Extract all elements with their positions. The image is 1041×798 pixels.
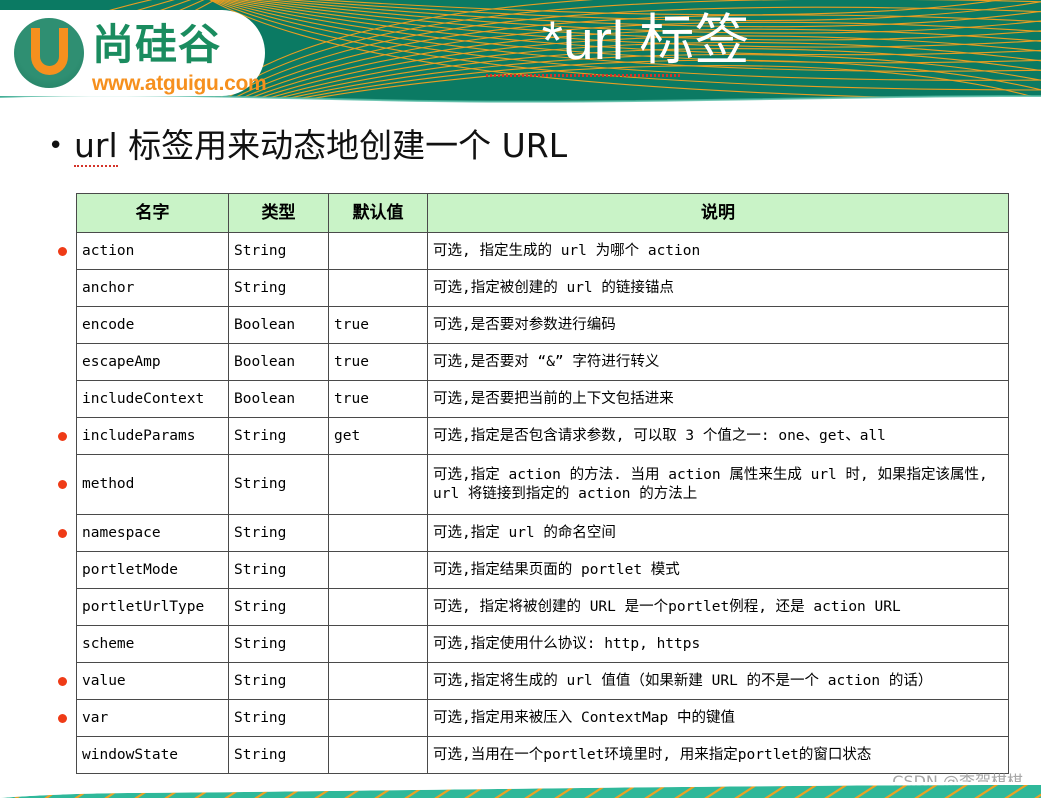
cell-attr-default xyxy=(329,700,428,737)
cell-attr-desc: 可选,指定结果页面的 portlet 模式 xyxy=(428,552,1009,589)
cell-attr-default xyxy=(329,270,428,307)
cell-attr-name: method xyxy=(77,455,229,515)
footer-decoration-strip xyxy=(0,782,1041,798)
table-row: portletUrlTypeString可选, 指定将被创建的 URL 是一个p… xyxy=(77,589,1009,626)
cell-attr-desc: 可选,指定是否包含请求参数, 可以取 3 个值之一: one、get、all xyxy=(428,418,1009,455)
cell-attr-desc: 可选,是否要对 “&” 字符进行转义 xyxy=(428,344,1009,381)
cell-attr-type: String xyxy=(229,626,329,663)
cell-attr-name: anchor xyxy=(77,270,229,307)
cell-attr-type: String xyxy=(229,663,329,700)
col-header-name: 名字 xyxy=(77,194,229,233)
cell-attr-desc: 可选,指定将生成的 url 值值（如果新建 URL 的不是一个 action 的… xyxy=(428,663,1009,700)
cell-attr-default xyxy=(329,552,428,589)
table-row: actionString可选, 指定生成的 url 为哪个 action xyxy=(77,233,1009,270)
table-row: namespaceString可选,指定 url 的命名空间 xyxy=(77,515,1009,552)
cell-attr-type: String xyxy=(229,737,329,774)
title-spellcheck-underline xyxy=(486,74,682,77)
cell-attr-default xyxy=(329,233,428,270)
row-marker-dot-icon xyxy=(58,529,67,538)
cell-attr-type: String xyxy=(229,515,329,552)
cell-attr-desc: 可选, 指定将被创建的 URL 是一个portlet例程, 还是 action … xyxy=(428,589,1009,626)
col-header-type: 类型 xyxy=(229,194,329,233)
bullet-text-url: url xyxy=(74,126,118,167)
row-marker-dot-icon xyxy=(58,432,67,441)
col-header-default: 默认值 xyxy=(329,194,428,233)
cell-attr-name: portletMode xyxy=(77,552,229,589)
cell-attr-default xyxy=(329,663,428,700)
cell-attr-name: scheme xyxy=(77,626,229,663)
cell-attr-type: String xyxy=(229,233,329,270)
main-bullet-line: •url 标签用来动态地创建一个 URL xyxy=(48,124,567,168)
cell-attr-name: includeParams xyxy=(77,418,229,455)
cell-attr-default xyxy=(329,737,428,774)
slide-header: *url 标签 尚硅谷 www.atguigu.com xyxy=(0,0,1041,110)
cell-attr-default: true xyxy=(329,344,428,381)
cell-attr-desc: 可选,指定用来被压入 ContextMap 中的键值 xyxy=(428,700,1009,737)
table-row: anchorString可选,指定被创建的 url 的链接锚点 xyxy=(77,270,1009,307)
slide: *url 标签 尚硅谷 www.atguigu.com •url 标签用来动态地… xyxy=(0,0,1041,798)
table-row: varString可选,指定用来被压入 ContextMap 中的键值 xyxy=(77,700,1009,737)
cell-attr-type: Boolean xyxy=(229,381,329,418)
table-header-row: 名字 类型 默认值 说明 xyxy=(77,194,1009,233)
cell-attr-name: action xyxy=(77,233,229,270)
cell-attr-desc: 可选,指定使用什么协议: http, https xyxy=(428,626,1009,663)
cell-attr-type: String xyxy=(229,418,329,455)
cell-attr-type: String xyxy=(229,270,329,307)
cell-attr-desc: 可选,是否要把当前的上下文包括进来 xyxy=(428,381,1009,418)
logo: 尚硅谷 www.atguigu.com xyxy=(0,10,265,96)
row-marker-dot-icon xyxy=(58,714,67,723)
cell-attr-desc: 可选,指定被创建的 url 的链接锚点 xyxy=(428,270,1009,307)
bullet-marker-icon: • xyxy=(48,124,74,168)
logo-u-glyph-icon xyxy=(31,28,68,75)
table-row: windowStateString可选,当用在一个portlet环境里时, 用来… xyxy=(77,737,1009,774)
cell-attr-name: namespace xyxy=(77,515,229,552)
attributes-table: 名字 类型 默认值 说明 actionString可选, 指定生成的 url 为… xyxy=(76,193,1009,774)
cell-attr-type: String xyxy=(229,700,329,737)
table-row: valueString可选,指定将生成的 url 值值（如果新建 URL 的不是… xyxy=(77,663,1009,700)
cell-attr-default: get xyxy=(329,418,428,455)
cell-attr-name: escapeAmp xyxy=(77,344,229,381)
cell-attr-type: String xyxy=(229,455,329,515)
cell-attr-name: includeContext xyxy=(77,381,229,418)
table-row: includeContextBooleantrue可选,是否要把当前的上下文包括… xyxy=(77,381,1009,418)
cell-attr-default: true xyxy=(329,381,428,418)
table-body: actionString可选, 指定生成的 url 为哪个 actionanch… xyxy=(77,233,1009,774)
row-marker-dot-icon xyxy=(58,247,67,256)
table-head: 名字 类型 默认值 说明 xyxy=(77,194,1009,233)
cell-attr-type: Boolean xyxy=(229,307,329,344)
table-row: encodeBooleantrue可选,是否要对参数进行编码 xyxy=(77,307,1009,344)
cell-attr-desc: 可选,是否要对参数进行编码 xyxy=(428,307,1009,344)
logo-brand-cn: 尚硅谷 xyxy=(92,19,221,71)
logo-brand-url: www.atguigu.com xyxy=(92,72,266,96)
cell-attr-type: String xyxy=(229,589,329,626)
cell-attr-name: encode xyxy=(77,307,229,344)
cell-attr-default xyxy=(329,515,428,552)
cell-attr-type: Boolean xyxy=(229,344,329,381)
cell-attr-type: String xyxy=(229,552,329,589)
table-row: methodString可选,指定 action 的方法. 当用 action … xyxy=(77,455,1009,515)
cell-attr-desc: 可选, 指定生成的 url 为哪个 action xyxy=(428,233,1009,270)
table-row: portletModeString可选,指定结果页面的 portlet 模式 xyxy=(77,552,1009,589)
bullet-text-rest: 标签用来动态地创建一个 URL xyxy=(118,126,567,165)
cell-attr-name: portletUrlType xyxy=(77,589,229,626)
cell-attr-default xyxy=(329,455,428,515)
table-row: includeParamsStringget可选,指定是否包含请求参数, 可以取… xyxy=(77,418,1009,455)
cell-attr-default xyxy=(329,626,428,663)
col-header-desc: 说明 xyxy=(428,194,1009,233)
table-row: schemeString可选,指定使用什么协议: http, https xyxy=(77,626,1009,663)
row-marker-dot-icon xyxy=(58,480,67,489)
cell-attr-desc: 可选,指定 url 的命名空间 xyxy=(428,515,1009,552)
cell-attr-name: windowState xyxy=(77,737,229,774)
row-marker-dot-icon xyxy=(58,677,67,686)
cell-attr-default: true xyxy=(329,307,428,344)
cell-attr-desc: 可选,指定 action 的方法. 当用 action 属性来生成 url 时,… xyxy=(428,455,1009,515)
table-row: escapeAmpBooleantrue可选,是否要对 “&” 字符进行转义 xyxy=(77,344,1009,381)
cell-attr-name: value xyxy=(77,663,229,700)
cell-attr-name: var xyxy=(77,700,229,737)
cell-attr-default xyxy=(329,589,428,626)
